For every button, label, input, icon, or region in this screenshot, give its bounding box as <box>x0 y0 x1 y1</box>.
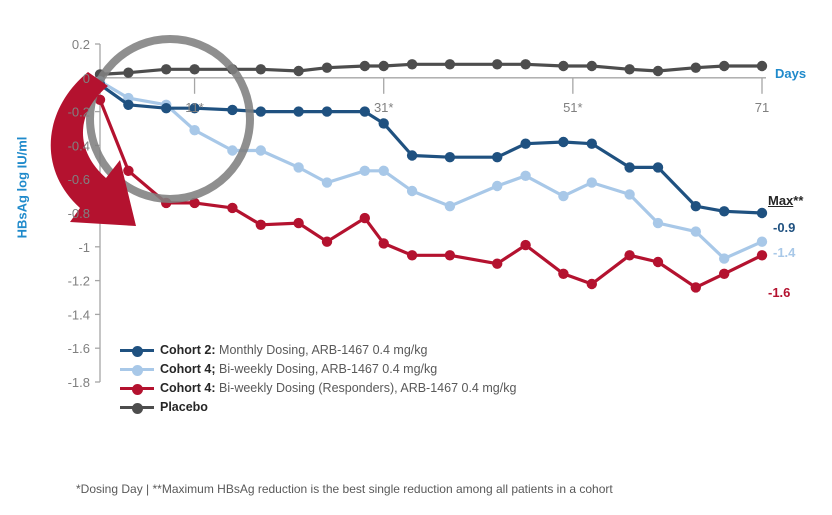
data-point <box>624 189 634 199</box>
legend-marker-icon <box>120 362 154 376</box>
data-point <box>520 171 530 181</box>
y-tick-label: -1.8 <box>68 375 90 390</box>
data-point <box>558 137 568 147</box>
data-point <box>624 162 634 172</box>
chart-footnote: *Dosing Day | **Maximum HBsAg reduction … <box>76 482 613 496</box>
legend-label: Cohort 4: Bi-weekly Dosing (Responders),… <box>160 381 516 395</box>
legend-label-bold: Cohort 4; <box>160 362 216 376</box>
data-point <box>445 250 455 260</box>
legend-label-rest: Bi-weekly Dosing (Responders), ARB-1467 … <box>216 381 517 395</box>
data-point <box>293 218 303 228</box>
data-point <box>445 152 455 162</box>
chart-page: 0.20-0.2-0.4-0.6-0.8-1-1.2-1.4-1.6-1.811… <box>0 0 832 515</box>
data-point <box>256 106 266 116</box>
legend-marker-icon <box>120 400 154 414</box>
data-point <box>691 201 701 211</box>
data-point <box>558 269 568 279</box>
data-point <box>492 181 502 191</box>
data-point <box>256 145 266 155</box>
data-point <box>520 139 530 149</box>
data-point <box>653 218 663 228</box>
x-axis-title: Days <box>775 66 806 81</box>
legend-label-bold: Cohort 4: <box>160 381 216 395</box>
data-point <box>322 106 332 116</box>
data-point <box>407 59 417 69</box>
data-point <box>123 68 133 78</box>
data-point <box>360 61 370 71</box>
data-point <box>360 213 370 223</box>
max-value-cohort2: -0.9 <box>773 220 795 235</box>
data-point <box>719 206 729 216</box>
legend-item: Cohort 2: Monthly Dosing, ARB-1467 0.4 m… <box>120 340 516 359</box>
data-point <box>293 162 303 172</box>
data-point <box>492 152 502 162</box>
y-tick-label: -0.8 <box>68 206 90 221</box>
data-point <box>256 64 266 74</box>
data-point <box>322 177 332 187</box>
max-value-cohort4-responders: -1.6 <box>768 285 790 300</box>
data-point <box>624 250 634 260</box>
data-point <box>161 103 171 113</box>
data-point <box>558 61 568 71</box>
data-point <box>719 269 729 279</box>
data-point <box>407 186 417 196</box>
data-point <box>587 177 597 187</box>
y-tick-label: -0.6 <box>68 172 90 187</box>
data-point <box>293 66 303 76</box>
series-line <box>95 59 767 80</box>
chart-legend: Cohort 2: Monthly Dosing, ARB-1467 0.4 m… <box>120 340 516 416</box>
max-header-sup: ** <box>793 193 803 208</box>
y-tick-label: -1 <box>78 240 90 255</box>
data-point <box>256 220 266 230</box>
legend-label-rest: Bi-weekly Dosing, ARB-1467 0.4 mg/kg <box>216 362 438 376</box>
legend-item: Cohort 4; Bi-weekly Dosing, ARB-1467 0.4… <box>120 359 516 378</box>
y-tick-label: -1.4 <box>68 307 90 322</box>
data-point <box>653 66 663 76</box>
max-header-text: Max <box>768 193 793 208</box>
max-value-cohort4: -1.4 <box>773 245 795 260</box>
data-point <box>407 150 417 160</box>
data-point <box>492 259 502 269</box>
x-tick-label: 51* <box>563 100 583 115</box>
data-point <box>691 226 701 236</box>
data-point <box>293 106 303 116</box>
data-point <box>161 64 171 74</box>
data-point <box>691 282 701 292</box>
y-tick-label: -0.2 <box>68 105 90 120</box>
data-point <box>322 237 332 247</box>
data-point <box>123 166 133 176</box>
data-point <box>492 59 502 69</box>
legend-marker-icon <box>120 381 154 395</box>
data-point <box>445 201 455 211</box>
legend-label: Cohort 4; Bi-weekly Dosing, ARB-1467 0.4… <box>160 362 437 376</box>
data-point <box>558 191 568 201</box>
data-point <box>520 59 530 69</box>
data-point <box>189 125 199 135</box>
data-point <box>653 162 663 172</box>
data-point <box>227 145 237 155</box>
data-point <box>407 250 417 260</box>
x-tick-label: 11* <box>185 100 204 115</box>
legend-item: Cohort 4: Bi-weekly Dosing (Responders),… <box>120 378 516 397</box>
legend-label-bold: Cohort 2: <box>160 343 216 357</box>
legend-label: Placebo <box>160 400 208 414</box>
x-tick-label: 71 <box>755 100 769 115</box>
data-point <box>653 257 663 267</box>
x-tick-label: 31* <box>374 100 394 115</box>
legend-label-rest: Monthly Dosing, ARB-1467 0.4 mg/kg <box>216 343 428 357</box>
data-point <box>445 59 455 69</box>
data-point <box>322 62 332 72</box>
data-point <box>691 62 701 72</box>
legend-item: Placebo <box>120 397 516 416</box>
y-tick-label: -1.2 <box>68 274 90 289</box>
data-point <box>719 253 729 263</box>
data-point <box>227 203 237 213</box>
hbsag-line-chart: 0.20-0.2-0.4-0.6-0.8-1-1.2-1.4-1.6-1.811… <box>0 0 832 515</box>
legend-label: Cohort 2: Monthly Dosing, ARB-1467 0.4 m… <box>160 343 427 357</box>
data-point <box>379 238 389 248</box>
data-point <box>379 118 389 128</box>
data-point <box>360 166 370 176</box>
data-point <box>587 61 597 71</box>
y-tick-label: -1.6 <box>68 341 90 356</box>
data-point <box>587 279 597 289</box>
data-point <box>719 61 729 71</box>
y-tick-label: 0.2 <box>72 37 90 52</box>
data-point <box>379 61 389 71</box>
data-point <box>520 240 530 250</box>
data-point <box>360 106 370 116</box>
y-axis-title: HBsAg log IU/ml <box>15 128 30 248</box>
max-column-header: Max** <box>768 193 803 208</box>
data-point <box>624 64 634 74</box>
legend-marker-icon <box>120 343 154 357</box>
y-tick-label: 0 <box>83 71 90 86</box>
data-point <box>379 166 389 176</box>
data-point <box>757 61 767 71</box>
data-point <box>123 100 133 110</box>
data-point <box>227 105 237 115</box>
data-point <box>587 139 597 149</box>
legend-label-bold: Placebo <box>160 400 208 414</box>
y-tick-label: -0.4 <box>68 138 90 153</box>
data-point <box>189 64 199 74</box>
